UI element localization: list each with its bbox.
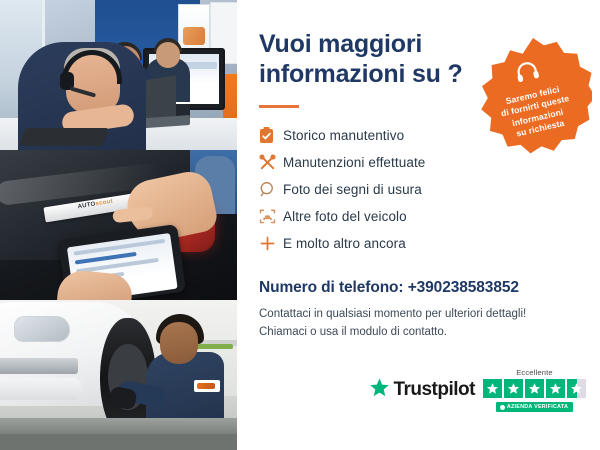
trustpilot-brand-name: Trustpilot <box>393 379 475 401</box>
tools-cross-icon <box>259 154 283 171</box>
photo-car-lift <box>0 418 237 434</box>
photo-strip-branding: AUTOscout <box>77 199 113 210</box>
feature-label: Storico manutentivo <box>283 128 404 143</box>
rating-star <box>546 379 565 398</box>
photo-car-grille <box>0 358 78 374</box>
feature-label: Foto dei segni di usura <box>283 182 422 197</box>
verified-check-icon <box>500 405 505 410</box>
feature-item-altre-foto-veicolo: Altre foto del veicolo <box>259 203 578 230</box>
photo-car-headlight <box>14 316 70 342</box>
photo-garage-floor <box>0 434 237 450</box>
contact-instructions: Contattaci in qualsiasi momento per ulte… <box>259 306 578 342</box>
content-panel: Vuoi maggiori informazioni su ? Storico … <box>237 0 600 450</box>
badge-text: Saremo felici di fornirti queste informa… <box>485 79 589 145</box>
phone-number-line[interactable]: Numero di telefono: +390238583852 <box>259 279 578 297</box>
callout-badge: Saremo felici di fornirti queste informa… <box>474 38 592 156</box>
rating-star <box>504 379 523 398</box>
rating-star <box>483 379 502 398</box>
trustpilot-rating-word: Eccellente <box>516 368 553 377</box>
photo-poster <box>178 4 210 54</box>
plus-icon <box>259 235 283 252</box>
feature-item-molto-altro: E molto altro ancora <box>259 230 578 257</box>
photo-shelf-item <box>193 344 233 349</box>
contact-instructions-line-2: Chiamaci o usa il modulo di contatto. <box>259 324 578 342</box>
photo-column: AUTOscout <box>0 0 237 450</box>
mechanic-wheel-service-photo <box>0 300 237 450</box>
photo-tablet-row <box>74 239 166 256</box>
photo-desk-tablet <box>19 128 109 146</box>
feature-label: E molto altro ancora <box>283 236 406 251</box>
rating-star <box>525 379 544 398</box>
feature-item-foto-segni-usura: Foto dei segni di usura <box>259 176 578 203</box>
verified-company-badge: AZIENDA VERIFICATA <box>496 402 573 412</box>
photo-person-three-head <box>156 42 180 68</box>
advertisement-panel: AUTOscout <box>0 0 600 450</box>
trustpilot-widget[interactable]: Trustpilot Eccellente <box>369 368 586 412</box>
photo-car-bumper <box>0 378 82 400</box>
trustpilot-star-icon <box>369 377 390 403</box>
verified-badge-label: AZIENDA VERIFICATA <box>507 404 568 410</box>
title-underline-divider <box>259 105 299 108</box>
photo-mechanic-head <box>160 322 198 364</box>
headset-icon <box>513 58 542 90</box>
trustpilot-logo: Trustpilot <box>369 377 475 403</box>
page-title: Vuoi maggiori informazioni su ? <box>259 30 474 89</box>
clipboard-check-icon <box>259 127 283 144</box>
photo-inspector-finger <box>112 206 153 223</box>
badge-content: Saremo felici di fornirti queste informa… <box>462 26 600 168</box>
magnifier-icon <box>259 181 283 198</box>
car-inspection-tablet-photo: AUTOscout <box>0 150 237 300</box>
call-center-operators-photo <box>0 0 237 150</box>
feature-label: Altre foto del veicolo <box>283 209 407 224</box>
photo-uniform-logo <box>194 380 220 392</box>
rating-star-half <box>567 379 586 398</box>
feature-label: Manutenzioni effettuate <box>283 155 425 170</box>
trustpilot-rating-block: Eccellente <box>483 368 586 412</box>
scan-car-icon <box>259 208 283 225</box>
contact-instructions-line-1: Contattaci in qualsiasi momento per ulte… <box>259 306 578 324</box>
trustpilot-star-rating <box>483 379 586 398</box>
